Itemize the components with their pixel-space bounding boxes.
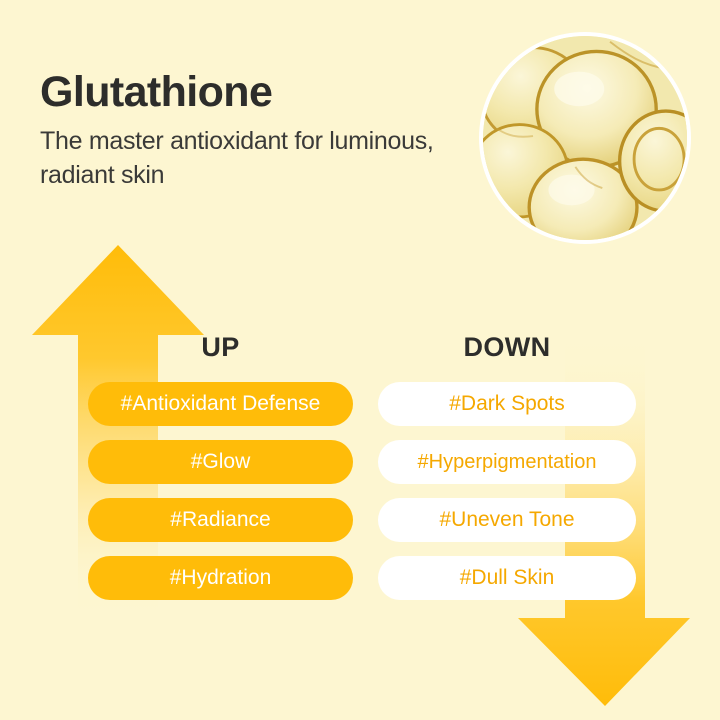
pill-down-dull-skin[interactable]: #Dull Skin: [378, 556, 636, 600]
pill-row: #Radiance #Uneven Tone: [0, 498, 720, 556]
pill-row: #Hydration #Dull Skin: [0, 556, 720, 614]
column-heading-up: UP: [88, 332, 353, 363]
column-headers: UP DOWN: [0, 332, 720, 374]
softgel-capsules-illustration: [483, 36, 687, 240]
pill-up-hydration[interactable]: #Hydration: [88, 556, 353, 600]
pill-down-hyperpigmentation[interactable]: #Hyperpigmentation: [378, 440, 636, 484]
pill-row: #Antioxidant Defense #Dark Spots: [0, 382, 720, 440]
glutathione-infographic: Glutathione The master antioxidant for l…: [0, 0, 720, 720]
pill-up-radiance[interactable]: #Radiance: [88, 498, 353, 542]
pill-grid: #Antioxidant Defense #Dark Spots #Glow #…: [0, 382, 720, 614]
comparison-columns: UP DOWN #Antioxidant Defense #Dark Spots…: [0, 332, 720, 374]
capsule-photo-circle: [479, 32, 691, 244]
page-title: Glutathione: [40, 70, 460, 115]
pill-down-dark-spots[interactable]: #Dark Spots: [378, 382, 636, 426]
pill-up-antioxidant-defense[interactable]: #Antioxidant Defense: [88, 382, 353, 426]
pill-down-uneven-tone[interactable]: #Uneven Tone: [378, 498, 636, 542]
page-subtitle: The master antioxidant for luminous, rad…: [40, 125, 460, 192]
pill-up-glow[interactable]: #Glow: [88, 440, 353, 484]
pill-row: #Glow #Hyperpigmentation: [0, 440, 720, 498]
header-block: Glutathione The master antioxidant for l…: [40, 70, 460, 192]
column-heading-down: DOWN: [378, 332, 636, 363]
